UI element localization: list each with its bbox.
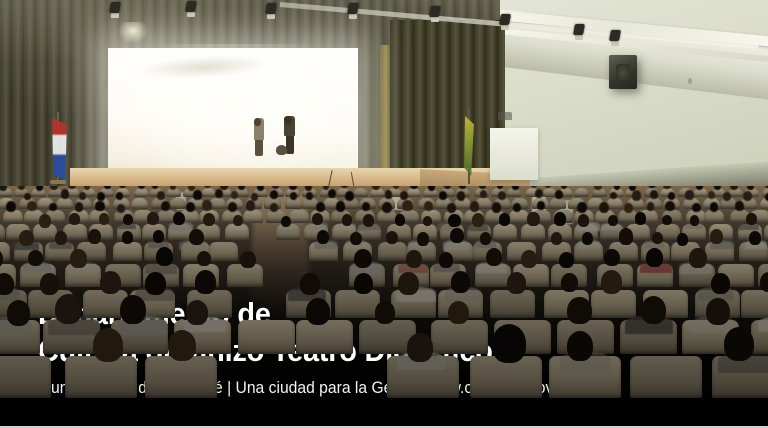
audience-member (499, 213, 511, 226)
audience-member (362, 202, 370, 211)
audience-member (363, 214, 375, 227)
wall-fixture (688, 78, 692, 84)
spotlight-icon (574, 24, 585, 39)
audience-member (375, 301, 395, 324)
audience-member (228, 202, 237, 212)
theater-seat (145, 356, 217, 398)
audience-member (498, 191, 506, 200)
audience-member (708, 191, 715, 199)
theater-seat (113, 242, 142, 261)
audience-member (350, 232, 362, 245)
audience-member (168, 330, 196, 362)
paraguayan-flag (48, 112, 68, 184)
audience-member (272, 186, 279, 189)
audience-member (203, 213, 215, 227)
spotlight-icon (348, 3, 359, 18)
audience-member (147, 212, 158, 225)
spotlight-icon (500, 14, 511, 29)
flag-cloth (464, 116, 474, 176)
photo-banner: Departamento de Cultura organizó Teatro … (0, 0, 768, 428)
theater-seat (741, 290, 768, 318)
audience-member (393, 186, 399, 189)
spotlight-icon (266, 3, 277, 18)
theater-seat (406, 188, 421, 197)
audience-member (7, 300, 30, 326)
audience-member (662, 215, 672, 226)
audience-member (120, 295, 146, 324)
audience-member (561, 273, 578, 292)
audience-member (578, 214, 590, 227)
audience-member (97, 192, 105, 201)
audience-member (6, 201, 16, 212)
audience-member (27, 201, 36, 212)
audience-member (551, 232, 562, 245)
audience-member (577, 202, 587, 213)
audience-member (635, 212, 646, 225)
audience-member (186, 300, 208, 325)
audience-member (317, 230, 329, 244)
audience-member (527, 212, 539, 226)
audience-member (439, 191, 447, 200)
audience-member (189, 229, 204, 246)
audience-member (354, 273, 373, 294)
performer-head (284, 116, 292, 125)
wall-emergency-fixture-icon (498, 112, 512, 120)
audience-member (28, 250, 43, 267)
audience-member (40, 273, 59, 295)
audience-member (668, 192, 675, 200)
theater-seat (65, 356, 137, 398)
audience-member (345, 191, 354, 201)
audience-member (354, 249, 372, 269)
audience-member (723, 192, 731, 201)
theater-seat (493, 224, 517, 240)
theater-seat (704, 210, 724, 223)
audience-member (300, 273, 320, 295)
audience-member (69, 213, 80, 225)
audience-member (743, 191, 752, 201)
audience-member (604, 249, 620, 267)
theater-seat (591, 290, 636, 318)
audience-member (599, 202, 609, 213)
audience-member (711, 273, 730, 294)
audience-member (281, 216, 291, 227)
audience-member (714, 186, 721, 190)
audience-member (685, 190, 693, 199)
audience-member (423, 216, 432, 227)
theater-seat (378, 242, 407, 261)
audience-member (710, 229, 723, 244)
audience-member (386, 231, 398, 244)
stage-prop-bag (276, 145, 287, 155)
theater-seat (0, 356, 51, 398)
audience-member (641, 296, 666, 324)
audience-member (690, 215, 700, 226)
theater-seat (296, 320, 353, 354)
audience-member (410, 186, 418, 189)
theater-seat (521, 224, 545, 240)
audience-member (417, 232, 429, 245)
audience-member (507, 272, 526, 294)
audience-member (55, 231, 67, 245)
secondary-flag (462, 108, 476, 184)
audience-member (36, 186, 43, 191)
audience-member (512, 186, 518, 190)
audience-member (75, 202, 83, 211)
audience-member (472, 213, 484, 226)
audience-member (100, 271, 121, 294)
audience-member (407, 333, 433, 362)
audience-member (156, 247, 173, 266)
audience-member (306, 298, 330, 325)
audience-member (88, 229, 102, 244)
audience-member (677, 233, 688, 246)
audience-member (735, 201, 744, 211)
audience-member (439, 252, 453, 268)
audience-member (492, 202, 501, 212)
audience-member (710, 202, 718, 211)
audience-member (486, 248, 502, 266)
audience-member (55, 294, 82, 325)
audience-member (608, 215, 618, 226)
audience-member (652, 232, 663, 244)
audience-member (428, 186, 436, 191)
audience-member (70, 249, 87, 268)
audience-member (448, 214, 460, 228)
theater-seat (764, 224, 768, 240)
audience-member (632, 190, 641, 200)
theater-seat (169, 198, 186, 209)
audience-member (49, 203, 57, 212)
audience-member (123, 214, 133, 225)
audience-member (290, 192, 297, 200)
audience-member (692, 203, 700, 212)
audience-member (746, 213, 757, 225)
performer-head (254, 118, 261, 126)
audience-member (492, 324, 526, 362)
theater-seat (131, 198, 148, 209)
spotlight-icon (110, 2, 121, 17)
audience-member (186, 202, 195, 212)
audience-member (406, 250, 422, 268)
theater-seat (0, 224, 5, 240)
audience-member (424, 201, 433, 211)
audience-member (95, 201, 104, 211)
audience-member (312, 213, 323, 225)
audience-member (342, 214, 353, 226)
audience-member (730, 186, 738, 190)
theater-seat (574, 188, 589, 197)
theater-seat (201, 188, 216, 197)
audience-member (650, 190, 658, 199)
audience-member (555, 190, 563, 199)
audience-member (601, 270, 622, 293)
audience-member (19, 230, 34, 246)
theater-seat (509, 210, 529, 223)
audience-member (450, 228, 464, 243)
spotlight-icon (430, 6, 441, 21)
theater-seat (431, 320, 488, 354)
audience-member (567, 297, 591, 324)
audience-member (240, 251, 256, 269)
audience-member (153, 230, 164, 243)
theater-seat (243, 210, 263, 223)
theater-seat (630, 356, 702, 398)
audience-member (385, 190, 393, 198)
performer-left (254, 118, 264, 156)
audience-member (202, 200, 212, 211)
audience-member (724, 327, 754, 361)
audience-member (161, 201, 170, 211)
audience-member (665, 201, 675, 212)
audience-member (624, 203, 633, 213)
audience-member (336, 201, 346, 212)
flag-cloth (52, 118, 67, 180)
audience-member (61, 189, 70, 199)
audience-member (188, 186, 195, 191)
audience-member (145, 272, 165, 295)
audience-member (619, 228, 634, 244)
theater-seat (134, 188, 149, 197)
audience-member (521, 250, 537, 268)
audience-member (646, 248, 663, 267)
audience-member (480, 190, 488, 199)
audience-member (233, 215, 243, 226)
theater-seat (490, 290, 535, 318)
audience-member (84, 186, 91, 190)
audience-member (582, 232, 593, 245)
audience-member (749, 231, 761, 244)
audience-member (117, 204, 125, 213)
audience-member (39, 214, 52, 228)
audience-member (400, 191, 408, 200)
audience-member (559, 252, 574, 269)
audience-member (567, 331, 593, 360)
audience-member (395, 214, 406, 226)
theater-seat (335, 290, 380, 318)
audience-member (470, 201, 480, 212)
audience-member (480, 232, 491, 244)
audience-member (554, 212, 566, 225)
spotlight-icon (610, 30, 621, 45)
theater-seat (289, 210, 309, 223)
audience-member (289, 186, 296, 190)
audience-member (647, 202, 655, 211)
audience-member (99, 213, 109, 224)
audience-member (93, 328, 124, 362)
theater-seat (549, 198, 566, 209)
audience-member (448, 301, 469, 325)
audience-member (402, 200, 412, 212)
audience-member (457, 191, 465, 200)
audience-member (706, 298, 730, 325)
spotlight-icon (186, 1, 197, 16)
audience-member (122, 231, 133, 244)
audience-member (535, 189, 543, 198)
performer-legs (255, 140, 263, 156)
theater-seat (238, 320, 295, 354)
audience-member-torso (758, 317, 768, 332)
theater-seat (353, 188, 368, 197)
audience-member (444, 186, 451, 189)
audience-member (305, 186, 312, 191)
wall-light-panel (490, 128, 538, 180)
audience-member (451, 271, 470, 293)
audience-member (447, 203, 456, 213)
spotlight-glow (118, 22, 148, 44)
theater-seat (56, 198, 73, 209)
audience-member (246, 200, 255, 210)
audience-member (398, 272, 419, 295)
audience-member (513, 203, 521, 212)
theater-seat (209, 242, 238, 261)
audience-member (195, 270, 216, 294)
audience-member (270, 190, 278, 199)
wall-speaker-icon (609, 55, 637, 89)
audience-member (193, 190, 202, 200)
flag-base (50, 180, 66, 184)
audience-member (116, 192, 123, 200)
audience-member (270, 203, 278, 212)
theater-seat (3, 210, 23, 223)
audience-member (173, 212, 185, 226)
audience-member (197, 251, 211, 267)
audience-member (689, 248, 706, 267)
